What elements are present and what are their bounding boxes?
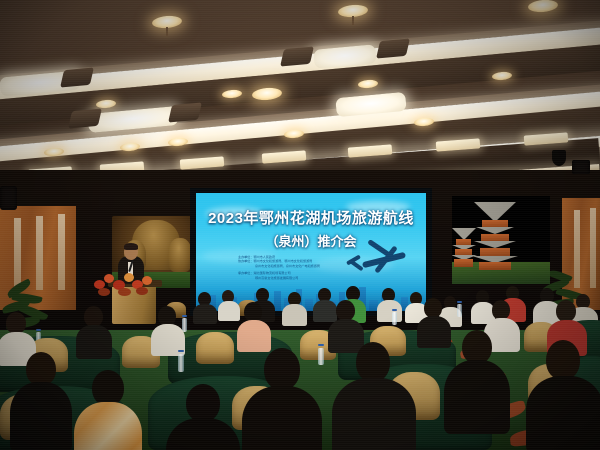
ceiling-downlight	[528, 0, 559, 13]
banquet-chair	[196, 332, 234, 364]
downlight-stem	[352, 16, 354, 25]
bottle-cap	[457, 301, 462, 303]
pagoda-photo-panel	[452, 196, 550, 284]
bottle-cap	[182, 315, 187, 317]
credit-text-1: 鄂州市文化和旅游局、鄂州市文化和旅游局	[253, 259, 312, 263]
credit-text-2: 泉州市文化和旅游局、泉州市文化广电和旅游局	[255, 264, 320, 268]
wall-mounted-speaker	[0, 186, 17, 210]
speaker-hair	[124, 243, 138, 250]
flower-arrangement	[92, 270, 154, 298]
slide-title: 2023年鄂州花湖机场旅游航线	[196, 207, 426, 228]
slide-subtitle: （泉州）推介会	[196, 231, 426, 250]
water-bottle	[392, 312, 397, 325]
water-bottle	[178, 354, 184, 372]
ceiling-downlight	[492, 71, 513, 81]
downlight-stem	[166, 27, 168, 36]
credit-text-0: 鄂州市人民政府	[253, 255, 275, 259]
bottle-cap	[178, 350, 184, 352]
wall-mounted-speaker	[572, 160, 590, 174]
bottle-cap	[392, 309, 397, 311]
bottle-cap	[36, 329, 41, 331]
credit-label-3: 承办单位：	[238, 271, 253, 275]
credit-label-0: 主办单位：	[238, 255, 253, 259]
slide-credits: 主办单位：鄂州市人民政府 协办单位：鄂州市文化和旅游局、鄂州市文化和旅游局 泉州…	[238, 255, 368, 280]
water-bottle	[318, 348, 324, 365]
bottle-cap	[318, 344, 324, 346]
conference-hall-photo: 2023年鄂州花湖机场旅游航线 （泉州）推介会 主办单位：鄂州市人民政府 协办单…	[0, 0, 600, 450]
credit-text-4: 鄂州高新文化旅游发展有限公司	[255, 276, 298, 280]
credit-text-3: 湖北国际物流机场有限公司	[253, 271, 290, 275]
ceiling-projector	[552, 150, 566, 166]
credit-label-1: 协办单位：	[238, 259, 253, 263]
water-bottle	[457, 304, 462, 317]
ceiling-light-baffle	[168, 102, 202, 122]
